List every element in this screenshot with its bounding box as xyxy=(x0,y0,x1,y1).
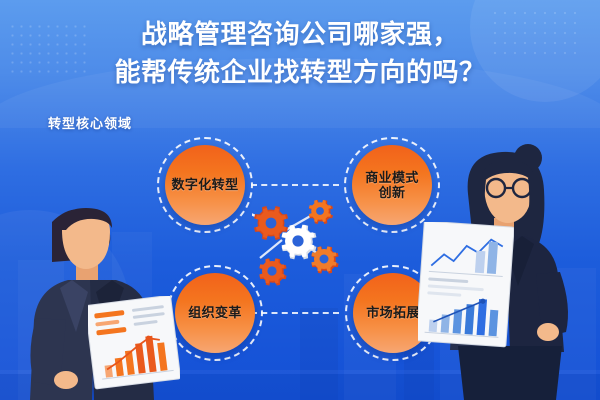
chart-document-right xyxy=(418,222,514,348)
connector-bottom xyxy=(251,312,339,314)
connector-top xyxy=(251,184,339,186)
node-organizational-change[interactable]: 组织变革 xyxy=(167,265,263,361)
gears-cluster-icon xyxy=(252,196,348,300)
node-disc: 商业模式 创新 xyxy=(352,145,432,225)
node-disc: 组织变革 xyxy=(175,273,255,353)
node-label: 数字化转型 xyxy=(171,177,238,192)
node-label: 商业模式 创新 xyxy=(365,170,419,201)
node-disc: 数字化转型 xyxy=(165,145,245,225)
node-business-model-innovation[interactable]: 商业模式 创新 xyxy=(344,137,440,233)
node-label: 市场拓展 xyxy=(366,305,420,320)
poster-canvas: 战略管理咨询公司哪家强， 能帮传统企业找转型方向的吗？ 转型核心领域 数字化转型… xyxy=(0,0,600,400)
node-label: 组织变革 xyxy=(188,305,242,320)
chart-document-left xyxy=(88,296,180,390)
